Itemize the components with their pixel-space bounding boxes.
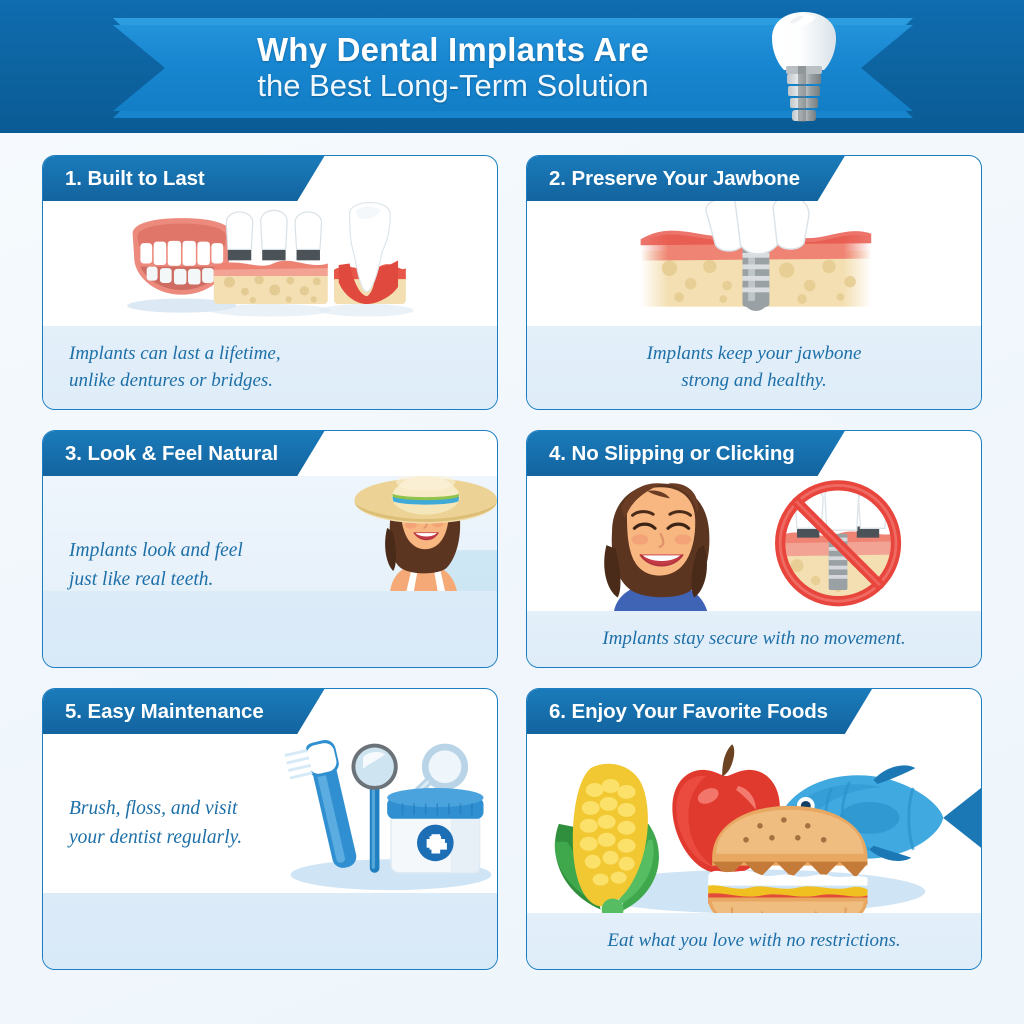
card-4-caption-line-1: Implants stay secure with no movement. <box>553 625 955 653</box>
implant-in-jawbone-illustration <box>527 201 981 326</box>
card-2-title-text: Preserve Your Jawbone <box>572 167 800 190</box>
card-5-number: 5. <box>65 700 82 723</box>
card-2-title: 2. Preserve Your Jawbone <box>549 167 800 191</box>
dentures-bridge-tooth-illustration <box>43 201 497 326</box>
card-4-title-text: No Slipping or Clicking <box>572 442 795 465</box>
card-3-caption-band <box>43 591 497 667</box>
card-6-caption-line-1: Eat what you love with no restrictions. <box>553 927 955 955</box>
benefit-card-6[interactable]: 6. Enjoy Your Favorite Foods <box>526 688 982 970</box>
card-4-caption: Implants stay secure with no movement. <box>527 611 981 667</box>
card-2-caption-line-1: Implants keep your jawbone <box>553 340 955 368</box>
card-3-caption-line-2: just like real teeth. <box>69 565 319 594</box>
card-2-caption-line-2: strong and healthy. <box>553 367 955 395</box>
card-3-number: 3. <box>65 442 82 465</box>
card-1-caption-line-2: unlike dentures or bridges. <box>69 367 471 395</box>
page-title-line-2: the Best Long-Term Solution <box>257 68 648 104</box>
benefit-card-2[interactable]: 2. Preserve Your Jawbone <box>526 155 982 410</box>
card-6-title: 6. Enjoy Your Favorite Foods <box>549 700 828 724</box>
benefit-card-4[interactable]: 4. No Slipping or Clicking <box>526 430 982 668</box>
dental-implant-icon <box>758 8 850 128</box>
card-2-body <box>527 201 981 326</box>
card-3-caption: Implants look and feel just like real te… <box>69 536 319 595</box>
benefit-card-3[interactable]: 3. Look & Feel Natural Implants look and… <box>42 430 498 668</box>
card-6-title-text: Enjoy Your Favorite Foods <box>572 700 828 723</box>
card-4-header: 4. No Slipping or Clicking <box>527 431 981 476</box>
smiling-woman-and-no-slipping-implant-illustration <box>527 476 981 611</box>
card-3-body: Implants look and feel just like real te… <box>43 476 497 591</box>
benefit-card-1[interactable]: 1. Built to Last <box>42 155 498 410</box>
card-4-number: 4. <box>549 442 566 465</box>
card-5-caption-line-2: your dentist regularly. <box>69 823 319 852</box>
card-3-header: 3. Look & Feel Natural <box>43 431 497 476</box>
card-6-header: 6. Enjoy Your Favorite Foods <box>527 689 981 734</box>
card-1-title-text: Built to Last <box>88 167 205 190</box>
corn-apple-sandwich-fish-illustration <box>527 734 981 913</box>
card-5-title: 5. Easy Maintenance <box>65 700 264 724</box>
card-5-caption-line-1: Brush, floss, and visit <box>69 794 319 823</box>
card-1-header: 1. Built to Last <box>43 156 497 201</box>
card-3-caption-line-1: Implants look and feel <box>69 536 319 565</box>
card-4-title: 4. No Slipping or Clicking <box>549 442 795 466</box>
card-3-title: 3. Look & Feel Natural <box>65 442 278 466</box>
card-5-title-text: Easy Maintenance <box>88 700 264 723</box>
card-5-header: 5. Easy Maintenance <box>43 689 497 734</box>
page-title-line-1: Why Dental Implants Are <box>257 32 649 68</box>
benefit-card-5[interactable]: 5. Easy Maintenance Brush, floss, and vi… <box>42 688 498 970</box>
card-1-number: 1. <box>65 167 82 190</box>
card-6-number: 6. <box>549 700 566 723</box>
card-5-body: Brush, floss, and visit your dentist reg… <box>43 734 497 893</box>
card-2-number: 2. <box>549 167 566 190</box>
card-5-caption-band <box>43 893 497 969</box>
card-6-body <box>527 734 981 913</box>
card-4-body <box>527 476 981 611</box>
card-2-caption: Implants keep your jawbone strong and he… <box>527 326 981 409</box>
card-1-title: 1. Built to Last <box>65 167 205 191</box>
page-title: Why Dental Implants Are the Best Long-Te… <box>113 22 793 114</box>
card-1-caption: Implants can last a lifetime, unlike den… <box>43 326 497 409</box>
header-banner: Why Dental Implants Are the Best Long-Te… <box>0 0 1024 133</box>
card-1-body <box>43 201 497 326</box>
card-1-caption-line-1: Implants can last a lifetime, <box>69 340 471 368</box>
card-6-caption: Eat what you love with no restrictions. <box>527 913 981 969</box>
card-3-title-text: Look & Feel Natural <box>88 442 279 465</box>
benefits-grid: 1. Built to Last <box>42 155 982 965</box>
card-2-header: 2. Preserve Your Jawbone <box>527 156 981 201</box>
card-5-caption: Brush, floss, and visit your dentist reg… <box>69 794 319 853</box>
